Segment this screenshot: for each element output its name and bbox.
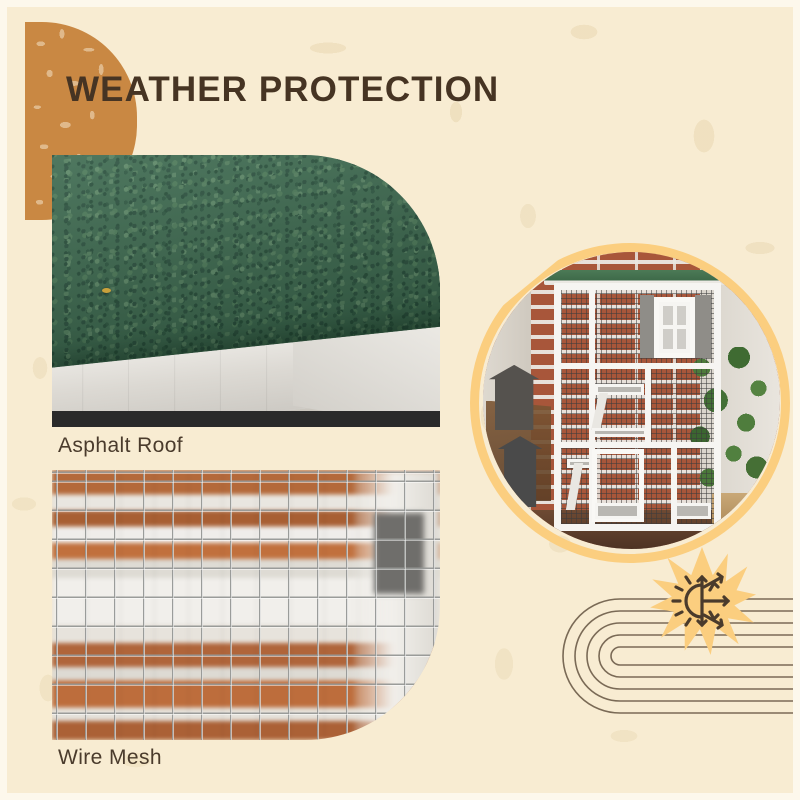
cat-house-bottom-platform-right: [674, 503, 711, 519]
product-cat-house: [554, 270, 720, 531]
cat-house-door-window: [659, 302, 690, 353]
caption-wire-mesh: Wire Mesh: [58, 746, 162, 770]
product-scene-lantern-lower: [498, 436, 543, 507]
cat-house-shelf-mid: [592, 428, 647, 437]
window-pane: [663, 306, 673, 325]
cat-house-side-panel-right: [695, 295, 710, 358]
product-photo-circle: [483, 252, 780, 549]
mesh-photo-wire-grid: [52, 470, 440, 740]
weather-badge: [648, 547, 756, 655]
feature-photo-wire-mesh: [52, 470, 440, 740]
page-title: WEATHER PROTECTION: [66, 70, 499, 110]
infographic-canvas: WEATHER PROTECTION Asphalt Roof Wire Mes…: [0, 0, 800, 800]
window-pane: [677, 329, 687, 348]
caption-asphalt-roof: Asphalt Roof: [58, 434, 183, 458]
cat-house-frame: [554, 283, 720, 531]
cat-house-floor-divider-upper: [561, 363, 713, 369]
cat-house-side-panel-left: [640, 295, 654, 358]
cat-house-upper-door[interactable]: [654, 297, 695, 358]
window-pane: [663, 329, 673, 348]
window-pane: [677, 306, 687, 325]
cat-house-bottom-platform: [595, 503, 641, 519]
cat-house-floor-divider-lower: [561, 442, 713, 448]
sun-snowflake-icon: [648, 547, 756, 655]
feature-photo-asphalt-roof: [52, 155, 440, 427]
roof-photo-shadow-base: [52, 411, 440, 427]
